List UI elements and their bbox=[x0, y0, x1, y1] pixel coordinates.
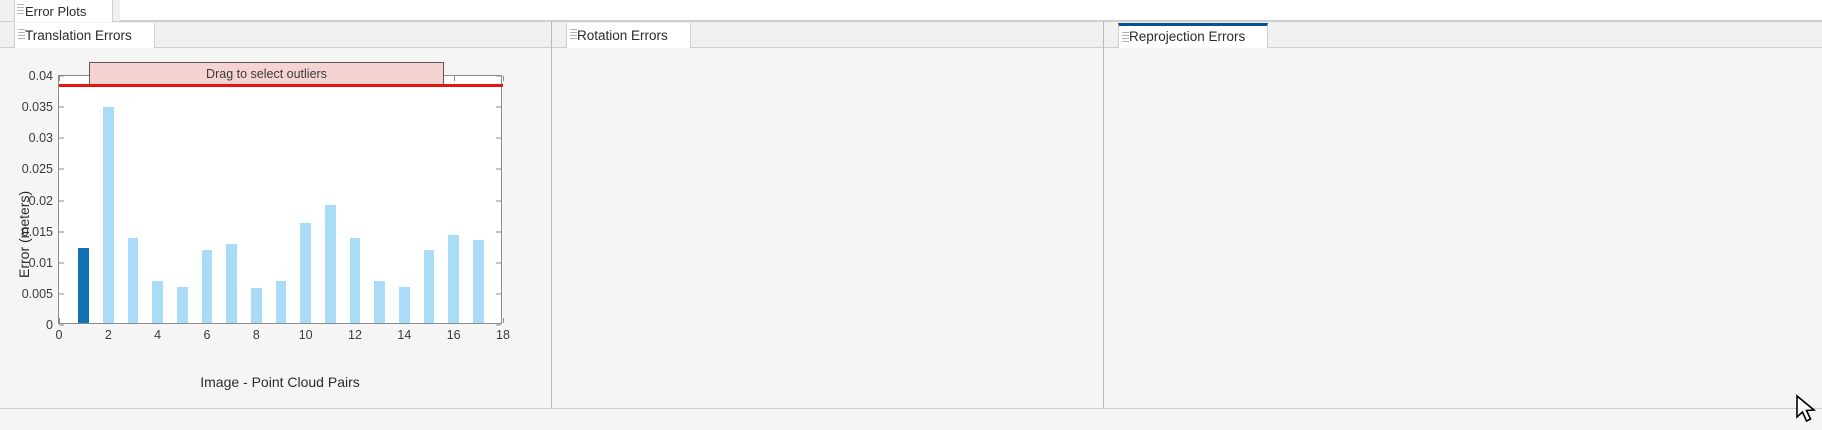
panel-reprojection-errors: Reprojection Errors 01234567802468101214… bbox=[1104, 22, 1822, 408]
mouse-pointer-icon bbox=[1794, 394, 1820, 424]
x-tick-label: 2 bbox=[105, 328, 112, 342]
y-tick-label: 0.025 bbox=[22, 162, 53, 176]
plot-area: 00.0050.010.0150.020.0250.030.0350.04024… bbox=[0, 48, 551, 408]
bar[interactable] bbox=[103, 107, 113, 323]
y-tick-label: 0.035 bbox=[22, 100, 53, 114]
drag-grip-icon[interactable] bbox=[570, 29, 577, 42]
drag-grip-icon[interactable] bbox=[18, 29, 25, 42]
bar[interactable] bbox=[424, 250, 434, 323]
bar[interactable] bbox=[473, 240, 483, 323]
y-tick-label: 0.005 bbox=[22, 287, 53, 301]
panel-tabstrip-rotation: Rotation Errors bbox=[552, 22, 1103, 48]
bar[interactable] bbox=[251, 288, 261, 323]
x-tick-label: 18 bbox=[496, 328, 510, 342]
bottom-strip bbox=[0, 408, 1822, 430]
bar[interactable] bbox=[350, 238, 360, 323]
y-tick-label: 0.04 bbox=[29, 69, 53, 83]
y-tick-label: 0.02 bbox=[29, 194, 53, 208]
tab-label: Rotation Errors bbox=[577, 28, 668, 43]
bar[interactable] bbox=[448, 235, 458, 323]
bar[interactable] bbox=[300, 223, 310, 323]
bar-series bbox=[59, 76, 501, 323]
bar[interactable] bbox=[152, 281, 162, 323]
x-tick-label: 12 bbox=[348, 328, 362, 342]
bar[interactable] bbox=[226, 244, 236, 323]
band-label: Drag to select outliers bbox=[90, 63, 443, 84]
bar[interactable] bbox=[276, 281, 286, 323]
drag-to-select-outliers-band[interactable]: Drag to select outliers bbox=[89, 62, 444, 85]
drag-grip-icon[interactable] bbox=[1122, 32, 1129, 45]
bar[interactable] bbox=[399, 287, 409, 323]
y-tick-label: 0.03 bbox=[29, 131, 53, 145]
drag-grip-icon[interactable] bbox=[17, 4, 24, 17]
x-tick-mark bbox=[503, 318, 504, 323]
tab-rotation-errors[interactable]: Rotation Errors bbox=[566, 23, 691, 48]
x-tick-label: 16 bbox=[447, 328, 461, 342]
y-tick-mark bbox=[496, 325, 501, 326]
error-plot-panels: Translation Errors 00.0050.010.0150.020.… bbox=[0, 22, 1822, 408]
panel-translation-errors: Translation Errors 00.0050.010.0150.020.… bbox=[0, 22, 552, 408]
plot-area: 00.511.522.533.5024681012141618Drag to s… bbox=[552, 48, 1103, 408]
document-tabstrip-filler bbox=[120, 0, 1822, 21]
document-tab-label: Error Plots bbox=[25, 4, 86, 19]
x-tick-label: 14 bbox=[397, 328, 411, 342]
y-tick-mark bbox=[59, 325, 64, 326]
x-axis-label: Image - Point Cloud Pairs bbox=[200, 374, 360, 390]
bar[interactable] bbox=[128, 238, 138, 323]
panel-tabstrip-translation: Translation Errors bbox=[0, 22, 551, 48]
bar[interactable] bbox=[177, 287, 187, 323]
x-tick-label: 8 bbox=[253, 328, 260, 342]
bar[interactable] bbox=[202, 250, 212, 323]
bar[interactable] bbox=[78, 248, 88, 323]
outlier-threshold-line[interactable] bbox=[59, 84, 503, 87]
plot-area: 0123456780246810121416Drag to select out… bbox=[1104, 48, 1822, 408]
y-tick-label: 0.01 bbox=[29, 256, 53, 270]
tab-translation-errors[interactable]: Translation Errors bbox=[14, 23, 155, 48]
tab-reprojection-errors[interactable]: Reprojection Errors bbox=[1118, 23, 1268, 48]
x-tick-mark bbox=[503, 76, 504, 81]
x-tick-label: 4 bbox=[154, 328, 161, 342]
x-tick-label: 0 bbox=[56, 328, 63, 342]
tab-label: Translation Errors bbox=[25, 28, 132, 43]
x-tick-label: 10 bbox=[299, 328, 313, 342]
axes-1[interactable]: 00.0050.010.0150.020.0250.030.0350.04024… bbox=[58, 75, 502, 324]
tab-label: Reprojection Errors bbox=[1129, 29, 1245, 44]
bar[interactable] bbox=[325, 205, 335, 323]
y-tick-label: 0 bbox=[46, 318, 53, 332]
panel-rotation-errors: Rotation Errors 00.511.522.533.502468101… bbox=[552, 22, 1104, 408]
document-tabstrip: Error Plots bbox=[0, 0, 1822, 22]
document-tab-error-plots[interactable]: Error Plots bbox=[14, 0, 113, 22]
y-axis-label: Error (meters) bbox=[16, 191, 32, 278]
bar[interactable] bbox=[374, 281, 384, 323]
panel-tabstrip-reprojection: Reprojection Errors bbox=[1104, 22, 1822, 48]
x-tick-label: 6 bbox=[204, 328, 211, 342]
